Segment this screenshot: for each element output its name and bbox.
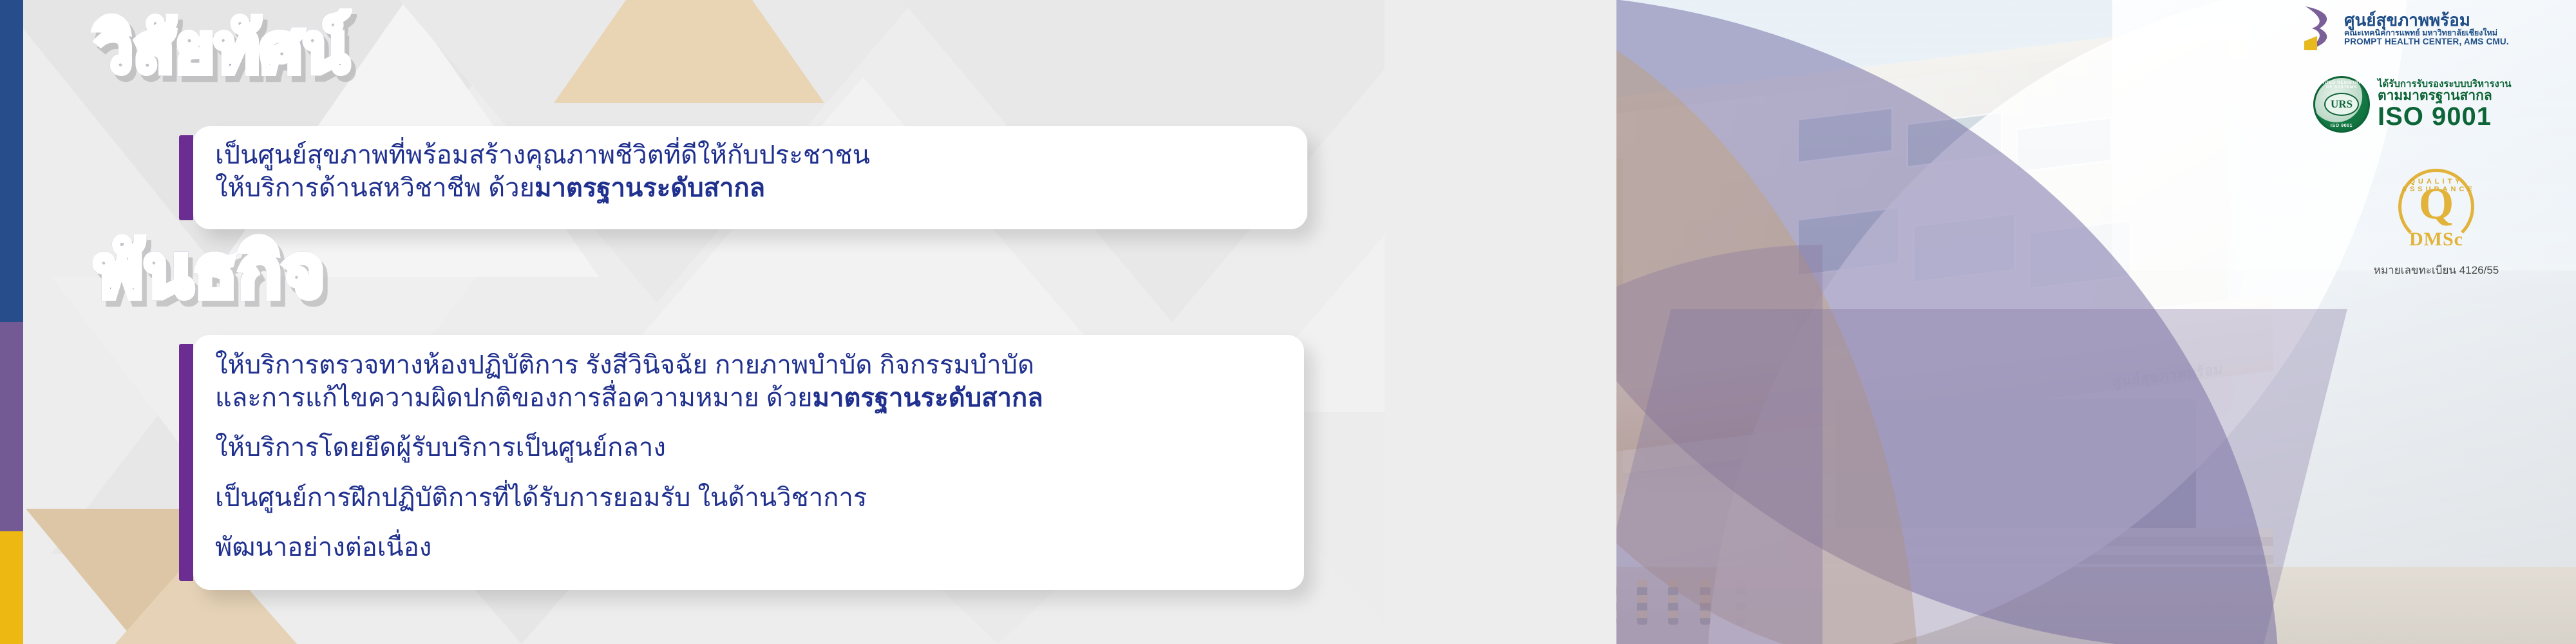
prompt-health-center-logo-mark-icon — [2300, 5, 2338, 53]
mission-item-3-line-1: เป็นศูนย์การฝึกปฏิบัติการที่ได้รับการยอม… — [215, 482, 1282, 515]
dmsc-q-seal-icon: QUALITY ASSURANCE Q DMSc — [2398, 169, 2474, 245]
vision-card: เป็นศูนย์สุขภาพที่พร้อมสร้างคุณภาพชีวิตท… — [193, 126, 1307, 229]
mission-item-2-line-1: ให้บริการโดยยึดผู้รับบริการเป็นศูนย์กลาง — [215, 431, 1282, 464]
iso-line-1: ได้รับการรับรองระบบบริหารงาน — [2378, 79, 2512, 90]
vision-heading: วิสัยทัศน์ — [95, 15, 349, 82]
urs-seal-icon: UNITED REGISTRAR OF SYSTEMS URS ISO 9001 — [2313, 76, 2370, 133]
organization-logo: ศูนย์สุขภาพพร้อม คณะเทคนิคการแพทย์ มหาวิ… — [2300, 5, 2558, 53]
vision-mission-banner: ศูนย์สุขภาพพร้อม วิสัยทัศน์ เ — [0, 0, 2576, 644]
mission-item: ให้บริการโดยยึดผู้รับบริการเป็นศูนย์กลาง — [215, 431, 1282, 464]
logo-subtitle-en: PROMPT HEALTH CENTER, AMS CMU. — [2344, 37, 2509, 46]
mission-heading: พันธกิจ — [95, 236, 325, 308]
left-color-stripe — [0, 0, 23, 644]
iso-line-2: ตามมาตรฐานสากล — [2378, 89, 2512, 103]
urs-seal-top-text: UNITED REGISTRAR OF SYSTEMS — [2315, 80, 2368, 90]
mission-item-1-line-2: และการแก้ไขความผิดปกติของการสื่อความหมาย… — [215, 382, 1282, 415]
logo-title: ศูนย์สุขภาพพร้อม — [2344, 12, 2509, 29]
stripe-segment-yellow — [0, 531, 23, 644]
urs-seal-center-text: URS — [2324, 93, 2359, 116]
q-seal-letter: Q — [2401, 182, 2471, 227]
vision-line-1: เป็นศูนย์สุขภาพที่พร้อมสร้างคุณภาพชีวิตท… — [215, 139, 1285, 172]
urs-seal-bottom-text: ISO 9001 — [2315, 124, 2368, 128]
mission-item-1-line-1: ให้บริการตรวจทางห้องปฏิบัติการ รังสีวินิ… — [215, 349, 1282, 382]
mission-item: พัฒนาอย่างต่อเนื่อง — [215, 531, 1282, 564]
stripe-segment-purple — [0, 322, 23, 531]
vision-line-2: ให้บริการด้านสหวิชาชีพ ด้วยมาตรฐานระดับส… — [215, 172, 1285, 205]
mission-item-4-line-1: พัฒนาอย่างต่อเนื่อง — [215, 531, 1282, 564]
mission-item: ให้บริการตรวจทางห้องปฏิบัติการ รังสีวินิ… — [215, 349, 1282, 415]
mission-card: ให้บริการตรวจทางห้องปฏิบัติการ รังสีวินิ… — [193, 335, 1304, 590]
q-seal-dmsc-text: DMSc — [2401, 229, 2471, 251]
mission-card-accent-bar — [179, 344, 193, 581]
stripe-segment-blue — [0, 0, 23, 322]
iso-certification-badge: UNITED REGISTRAR OF SYSTEMS URS ISO 9001… — [2313, 76, 2558, 133]
dmsc-registration-number: หมายเลขทะเบียน 4126/55 — [2356, 261, 2517, 279]
vision-card-accent-bar — [179, 135, 193, 220]
mission-item: เป็นศูนย์การฝึกปฏิบัติการที่ได้รับการยอม… — [215, 482, 1282, 515]
dmsc-quality-badge: QUALITY ASSURANCE Q DMSc หมายเลขทะเบียน … — [2356, 169, 2517, 279]
iso-line-3: ISO 9001 — [2378, 104, 2512, 130]
